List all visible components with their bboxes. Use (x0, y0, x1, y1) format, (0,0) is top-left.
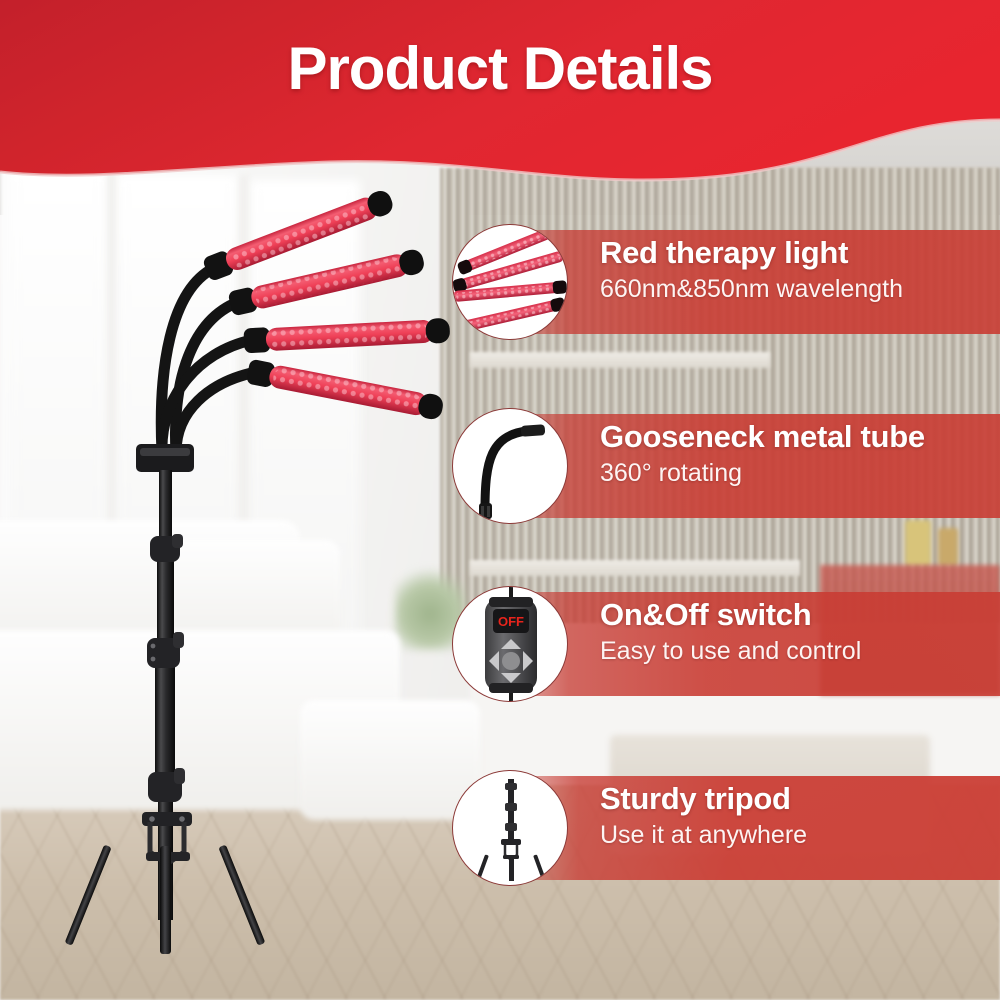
feature-row-on-off-switch[interactable]: OFF On&Off switch Easy to use and contro… (452, 586, 1000, 702)
feature-row-gooseneck-metal-tube[interactable]: Gooseneck metal tube 360° rotating (452, 408, 1000, 524)
led-strips-icon (452, 224, 568, 340)
feature-text: On&Off switch Easy to use and control (600, 598, 1000, 666)
feature-title: Sturdy tripod (600, 782, 1000, 817)
feature-title: Gooseneck metal tube (600, 420, 1000, 455)
feature-title: On&Off switch (600, 598, 1000, 633)
feature-subtitle: Easy to use and control (600, 636, 1000, 666)
feature-subtitle: 360° rotating (600, 458, 1000, 488)
feature-list: Red therapy light 660nm&850nm wavelength… (0, 0, 1000, 1000)
feature-row-red-therapy-light[interactable]: Red therapy light 660nm&850nm wavelength (452, 224, 1000, 340)
switch-display-text: OFF (498, 614, 524, 629)
feature-title: Red therapy light (600, 236, 1000, 271)
inline-switch-icon: OFF (452, 586, 568, 702)
feature-subtitle: Use it at anywhere (600, 820, 1000, 850)
tripod-stand-icon (452, 770, 568, 886)
feature-text: Red therapy light 660nm&850nm wavelength (600, 236, 1000, 304)
feature-text: Gooseneck metal tube 360° rotating (600, 420, 1000, 488)
page-title: Product Details (0, 34, 1000, 103)
gooseneck-tube-icon (452, 408, 568, 524)
feature-row-sturdy-tripod[interactable]: Sturdy tripod Use it at anywhere (452, 770, 1000, 886)
feature-text: Sturdy tripod Use it at anywhere (600, 782, 1000, 850)
feature-subtitle: 660nm&850nm wavelength (600, 274, 1000, 304)
